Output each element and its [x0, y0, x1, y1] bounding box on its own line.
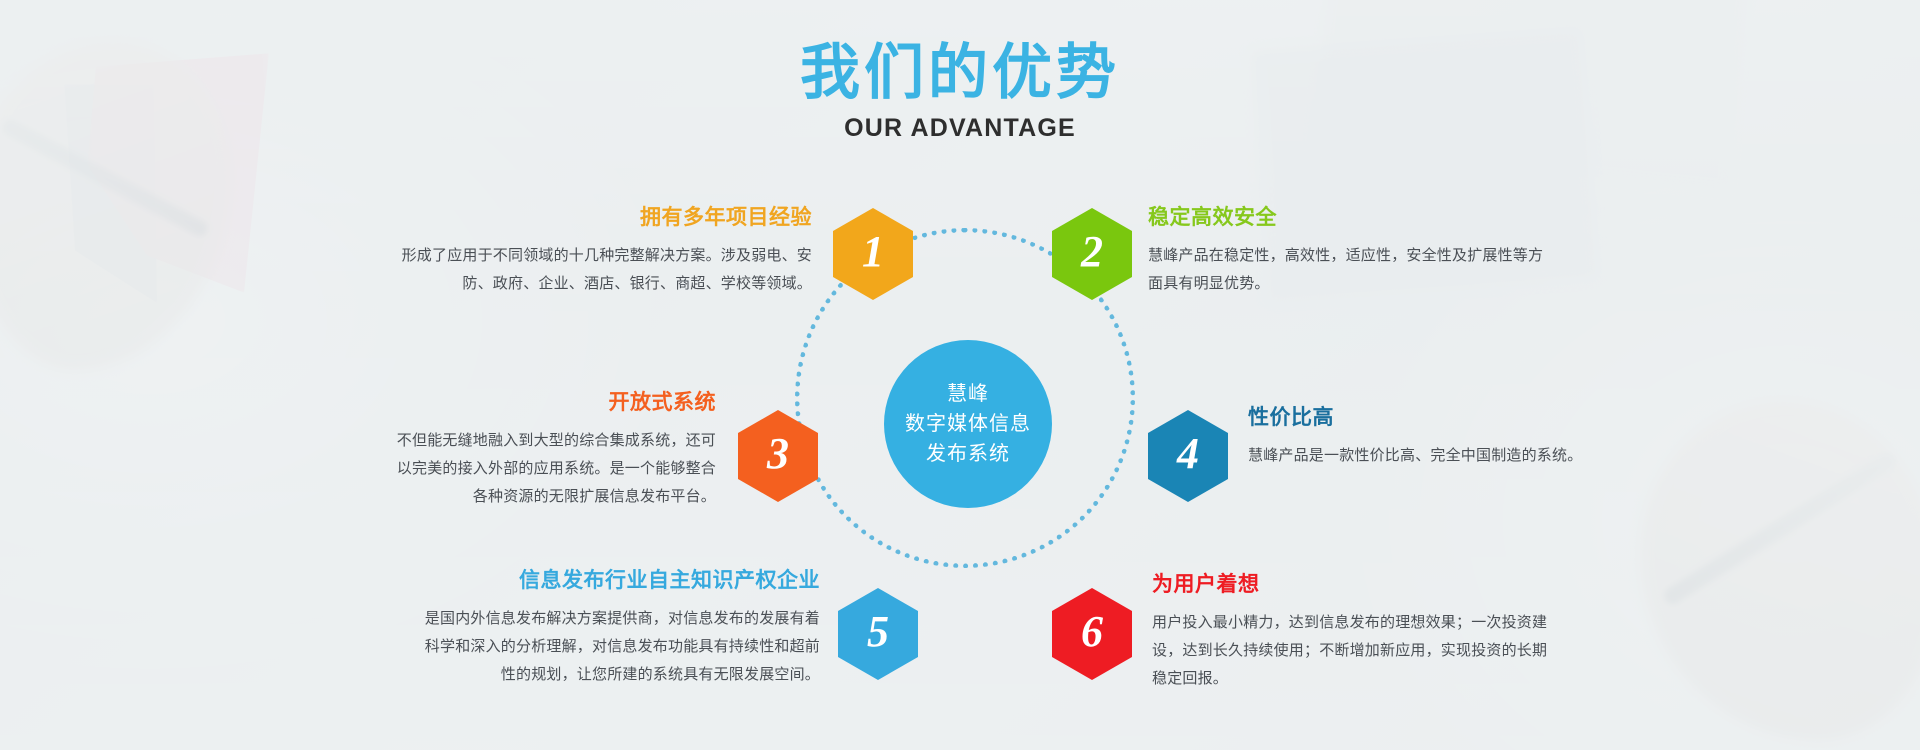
hex-badge-3-number: 3	[767, 432, 789, 476]
advantage-item-2: 稳定高效安全 慧峰产品在稳定性，高效性，适应性，安全性及扩展性等方面具有明显优势…	[1148, 205, 1548, 298]
advantage-item-3-heading: 开放式系统	[390, 390, 716, 415]
advantage-item-1-heading: 拥有多年项目经验	[400, 205, 812, 230]
advantage-item-6-heading: 为用户着想	[1152, 572, 1552, 597]
advantage-item-3-body: 不但能无缝地融入到大型的综合集成系统，还可以完美的接入外部的应用系统。是一个能够…	[390, 427, 716, 510]
advantage-item-6-body: 用户投入最小精力，达到信息发布的理想效果；一次投资建设，达到长久持续使用；不断增…	[1152, 609, 1552, 692]
advantage-item-2-heading: 稳定高效安全	[1148, 205, 1548, 230]
hex-badge-2-number: 2	[1081, 230, 1103, 274]
advantage-item-1-body: 形成了应用于不同领域的十几种完整解决方案。涉及弱电、安防、政府、企业、酒店、银行…	[400, 242, 812, 298]
hex-badge-4[interactable]: 4	[1148, 410, 1228, 502]
center-circle: 慧峰 数字媒体信息 发布系统	[884, 340, 1052, 508]
advantage-item-5-heading: 信息发布行业自主知识产权企业	[420, 568, 820, 593]
advantage-item-5: 信息发布行业自主知识产权企业 是国内外信息发布解决方案提供商，对信息发布的发展有…	[420, 568, 820, 688]
hex-badge-6[interactable]: 6	[1052, 588, 1132, 680]
page-header: 我们的优势 OUR ADVANTAGE	[0, 42, 1920, 143]
hex-badge-5-number: 5	[867, 610, 889, 654]
center-line-2: 数字媒体信息	[905, 409, 1031, 439]
advantage-banner: 我们的优势 OUR ADVANTAGE 慧峰 数字媒体信息 发布系统 1 2 3…	[0, 0, 1920, 750]
advantage-item-4-heading: 性价比高	[1248, 405, 1588, 430]
center-line-3: 发布系统	[926, 439, 1010, 469]
advantage-item-1: 拥有多年项目经验 形成了应用于不同领域的十几种完整解决方案。涉及弱电、安防、政府…	[400, 205, 812, 298]
page-subtitle: OUR ADVANTAGE	[0, 114, 1920, 143]
advantage-item-4: 性价比高 慧峰产品是一款性价比高、完全中国制造的系统。	[1248, 405, 1588, 470]
center-line-1: 慧峰	[947, 379, 989, 409]
advantage-item-3: 开放式系统 不但能无缝地融入到大型的综合集成系统，还可以完美的接入外部的应用系统…	[390, 390, 716, 510]
hex-badge-5[interactable]: 5	[838, 588, 918, 680]
page-title: 我们的优势	[0, 42, 1920, 104]
advantage-item-2-body: 慧峰产品在稳定性，高效性，适应性，安全性及扩展性等方面具有明显优势。	[1148, 242, 1548, 298]
advantage-item-6: 为用户着想 用户投入最小精力，达到信息发布的理想效果；一次投资建设，达到长久持续…	[1152, 572, 1552, 692]
hex-badge-4-number: 4	[1177, 432, 1199, 476]
advantage-item-5-body: 是国内外信息发布解决方案提供商，对信息发布的发展有着科学和深入的分析理解，对信息…	[420, 605, 820, 688]
hex-badge-6-number: 6	[1081, 610, 1103, 654]
hex-badge-1-number: 1	[862, 230, 884, 274]
advantage-item-4-body: 慧峰产品是一款性价比高、完全中国制造的系统。	[1248, 442, 1588, 470]
